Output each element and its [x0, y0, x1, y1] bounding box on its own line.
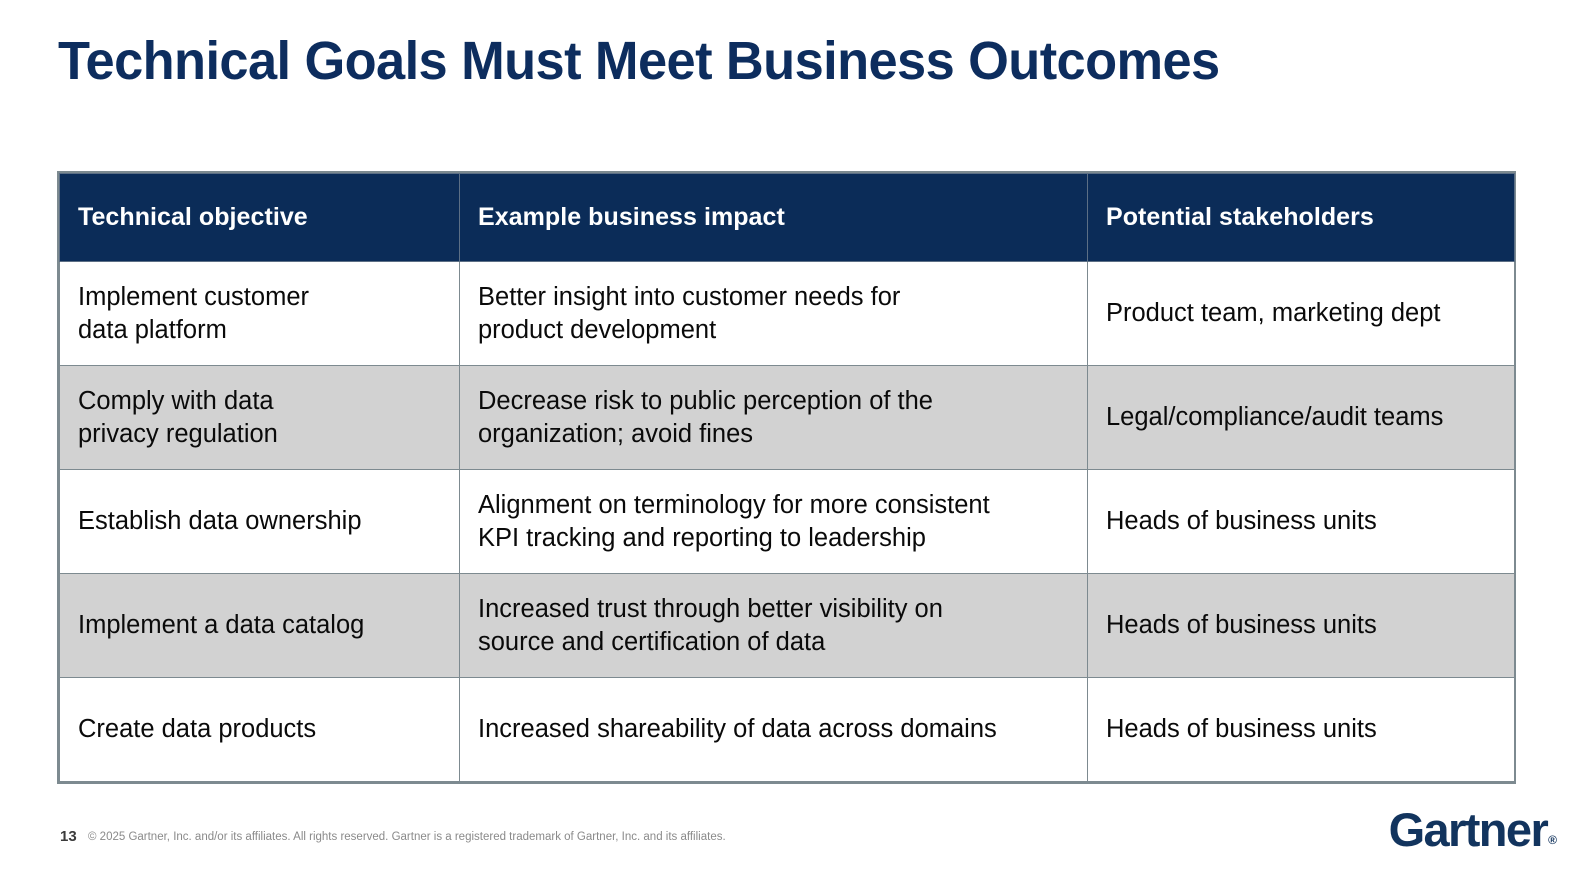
- table-row: Comply with data privacy regulation Decr…: [60, 366, 1515, 470]
- cell-stakeholders: Heads of business units: [1088, 470, 1515, 574]
- cell-stakeholders: Product team, marketing dept: [1088, 262, 1515, 366]
- column-header-potential-stakeholders: Potential stakeholders: [1088, 174, 1515, 262]
- cell-business-impact: Increased shareability of data across do…: [460, 678, 1088, 782]
- table-row: Create data products Increased shareabil…: [60, 678, 1515, 782]
- cell-text-line: KPI tracking and reporting to leadership: [478, 522, 1073, 554]
- cell-stakeholders: Legal/compliance/audit teams: [1088, 366, 1515, 470]
- cell-technical-objective: Establish data ownership: [60, 470, 460, 574]
- table-row: Establish data ownership Alignment on te…: [60, 470, 1515, 574]
- cell-text-line: product development: [478, 314, 1073, 346]
- cell-text-line: Increased trust through better visibilit…: [478, 593, 1073, 625]
- cell-text-line: Create data products: [74, 713, 445, 745]
- cell-technical-objective: Implement customer data platform: [60, 262, 460, 366]
- gartner-logo-text: Gartner: [1389, 803, 1548, 856]
- cell-text-line: source and certification of data: [478, 626, 1073, 658]
- slide-canvas: Technical Goals Must Meet Business Outco…: [0, 0, 1594, 890]
- cell-text-line: Product team, marketing dept: [1102, 297, 1500, 329]
- cell-text-line: Heads of business units: [1102, 713, 1500, 745]
- cell-text-line: Heads of business units: [1102, 505, 1500, 537]
- cell-technical-objective: Create data products: [60, 678, 460, 782]
- table-header-row: Technical objective Example business imp…: [60, 174, 1515, 262]
- table-row: Implement a data catalog Increased trust…: [60, 574, 1515, 678]
- cell-stakeholders: Heads of business units: [1088, 574, 1515, 678]
- cell-text-line: privacy regulation: [78, 418, 445, 450]
- cell-text-line: data platform: [78, 314, 445, 346]
- cell-technical-objective: Implement a data catalog: [60, 574, 460, 678]
- cell-business-impact: Increased trust through better visibilit…: [460, 574, 1088, 678]
- cell-business-impact: Better insight into customer needs for p…: [460, 262, 1088, 366]
- registered-trademark-icon: ®: [1548, 833, 1557, 847]
- objectives-table: Technical objective Example business imp…: [57, 171, 1516, 784]
- cell-business-impact: Alignment on terminology for more consis…: [460, 470, 1088, 574]
- cell-text-line: Increased shareability of data across do…: [474, 713, 1073, 745]
- cell-text-line: Alignment on terminology for more consis…: [478, 489, 1073, 521]
- cell-text-line: Legal/compliance/audit teams: [1102, 401, 1500, 433]
- cell-text-line: Decrease risk to public perception of th…: [478, 385, 1073, 417]
- copyright-notice: © 2025 Gartner, Inc. and/or its affiliat…: [88, 832, 726, 844]
- cell-text-line: Implement customer: [78, 281, 445, 313]
- cell-stakeholders: Heads of business units: [1088, 678, 1515, 782]
- slide-page-number: 13: [60, 829, 77, 844]
- column-header-label: Potential stakeholders: [1102, 203, 1500, 232]
- column-header-label: Technical objective: [74, 203, 445, 232]
- cell-text-line: Better insight into customer needs for: [478, 281, 1073, 313]
- column-header-technical-objective: Technical objective: [60, 174, 460, 262]
- table-row: Implement customer data platform Better …: [60, 262, 1515, 366]
- cell-text-line: Establish data ownership: [74, 505, 445, 537]
- cell-text-line: Comply with data: [78, 385, 445, 417]
- page-title: Technical Goals Must Meet Business Outco…: [58, 33, 1474, 90]
- cell-technical-objective: Comply with data privacy regulation: [60, 366, 460, 470]
- cell-text-line: Implement a data catalog: [74, 609, 445, 641]
- cell-business-impact: Decrease risk to public perception of th…: [460, 366, 1088, 470]
- cell-text-line: Heads of business units: [1102, 609, 1500, 641]
- column-header-example-business-impact: Example business impact: [460, 174, 1088, 262]
- gartner-logo: Gartner®: [1389, 806, 1556, 853]
- column-header-label: Example business impact: [474, 203, 1073, 232]
- cell-text-line: organization; avoid fines: [478, 418, 1073, 450]
